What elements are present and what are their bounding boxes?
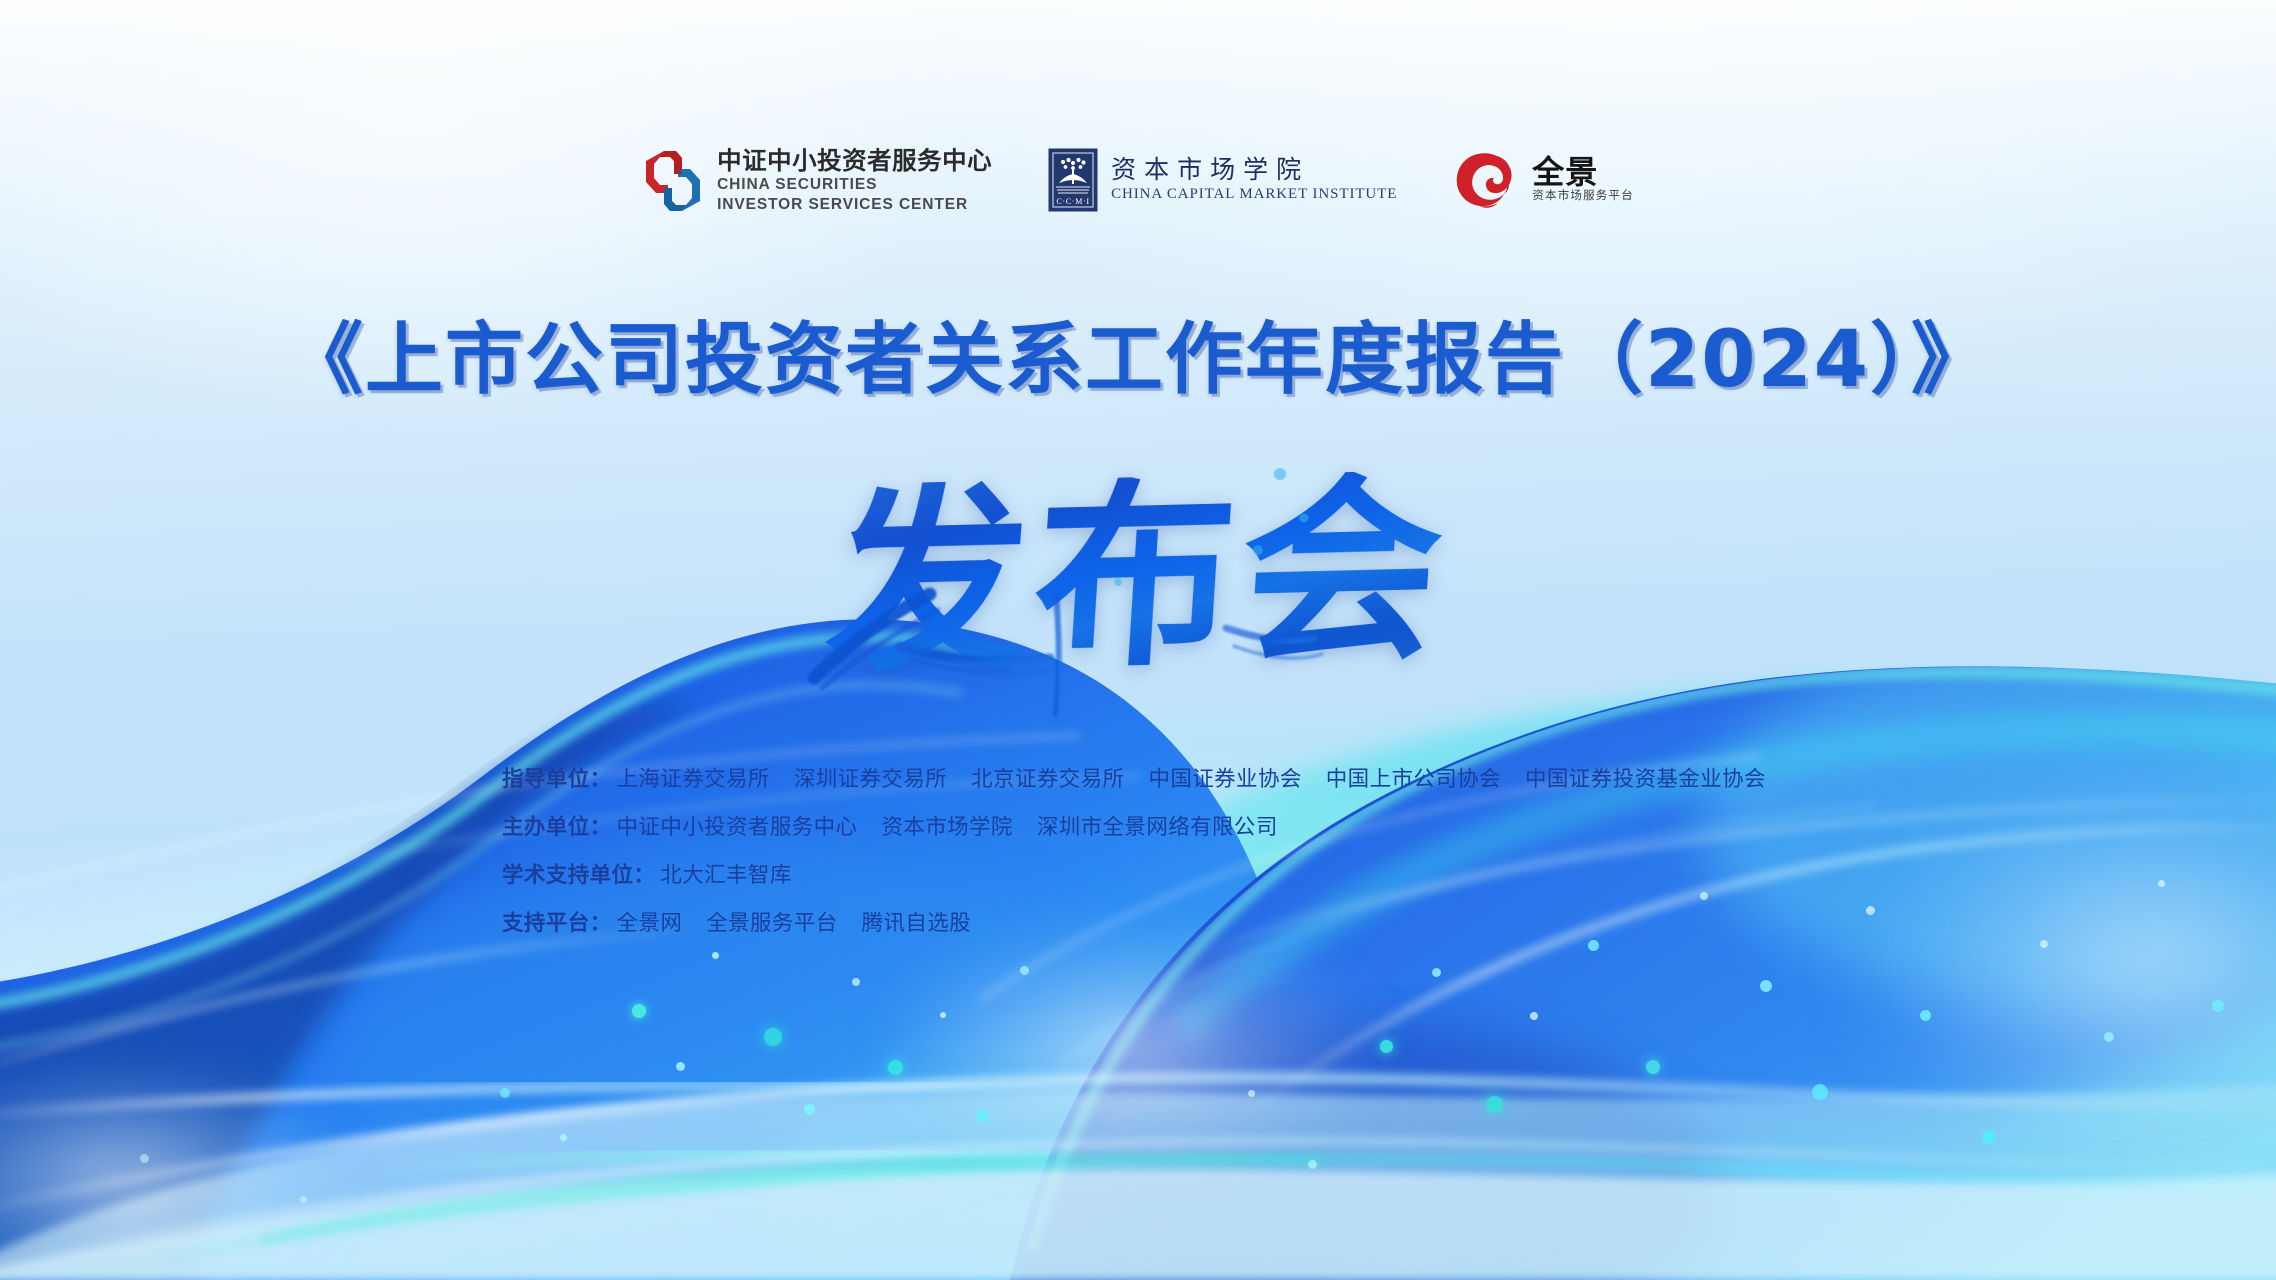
logo-ccmi: C·C·M·I 资本市场学院 CHINA CAPITAL MARKET INST… [1048,148,1397,212]
credit-label: 学术支持单位： [502,858,655,889]
credit-row-academic-support: 学术支持单位： 北大汇丰智库 [502,858,1766,889]
calligraphy-fabuhui: 发布会 [822,469,1454,684]
credit-row-guidance-units: 指导单位： 上海证券交易所 深圳证券交易所 北京证券交易所 中国证券业协会 中国… [502,762,1766,793]
credit-item: 中国证券投资基金业协会 [1525,762,1766,793]
credit-item: 腾讯自选股 [862,906,972,937]
panorama-chinese-name: 全景 [1532,156,1634,188]
credit-row-support-platforms: 支持平台： 全景网 全景服务平台 腾讯自选股 [502,906,1766,937]
credit-item: 上海证券交易所 [617,762,770,793]
credit-item: 深圳证券交易所 [794,762,947,793]
credits-block: 指导单位： 上海证券交易所 深圳证券交易所 北京证券交易所 中国证券业协会 中国… [502,762,1766,937]
ccmi-chinese-name: 资本市场学院 [1111,157,1397,183]
csisc-english-line1: CHINA SECURITIES [717,176,992,194]
credit-item: 深圳市全景网络有限公司 [1037,810,1278,841]
credit-item: 北大汇丰智库 [660,858,791,889]
credit-item: 中国证券业协会 [1148,762,1301,793]
credit-item: 中国上市公司协会 [1326,762,1501,793]
credit-row-organizers: 主办单位： 中证中小投资者服务中心 资本市场学院 深圳市全景网络有限公司 [502,810,1766,841]
panorama-swirl-mark [1453,148,1519,210]
logo-csisc: 中证中小投资者服务中心 CHINA SECURITIES INVESTOR SE… [642,148,992,214]
panorama-subtitle: 资本市场服务平台 [1532,189,1634,202]
credit-item: 资本市场学院 [881,810,1012,841]
ccmi-english-name: CHINA CAPITAL MARKET INSTITUTE [1111,186,1397,203]
credit-item: 全景网 [617,906,683,937]
credit-label: 主办单位： [502,810,612,841]
csisc-interlock-mark [642,148,704,214]
svg-text:C·C·M·I: C·C·M·I [1056,197,1089,206]
credit-label: 指导单位： [502,762,612,793]
credit-item: 中证中小投资者服务中心 [617,810,858,841]
ccmi-tree-shield-mark: C·C·M·I [1048,148,1098,212]
page-title: 《上市公司投资者关系工作年度报告（2024）》 [0,297,2276,409]
event-keyvisual-poster: 中证中小投资者服务中心 CHINA SECURITIES INVESTOR SE… [0,0,2276,1280]
credit-label: 支持平台： [502,906,612,937]
csisc-english-line2: INVESTOR SERVICES CENTER [717,196,992,214]
credit-item: 全景服务平台 [706,906,837,937]
sponsor-logo-bar: 中证中小投资者服务中心 CHINA SECURITIES INVESTOR SE… [0,148,2276,214]
calligraphy-block: 发布会 [0,432,2276,722]
csisc-chinese-name: 中证中小投资者服务中心 [717,148,992,174]
credit-item: 北京证券交易所 [971,762,1124,793]
logo-panorama: 全景 资本市场服务平台 [1453,148,1634,210]
